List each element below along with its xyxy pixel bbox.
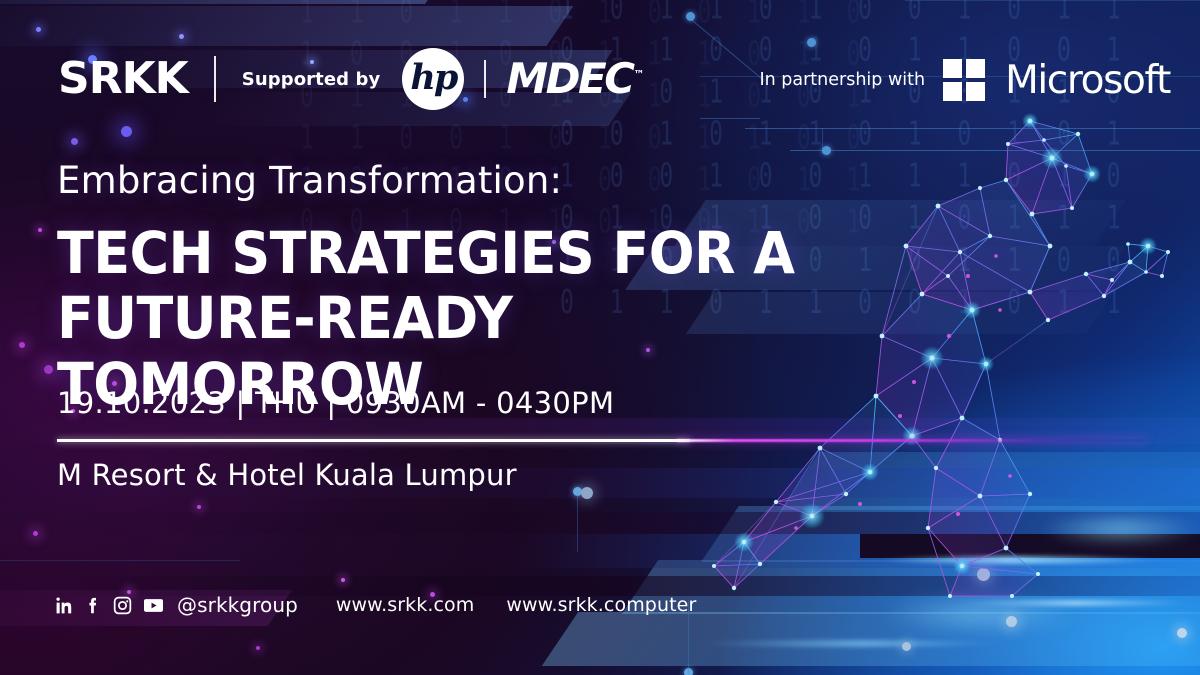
website-url-primary[interactable]: www.srkk.com (336, 594, 474, 616)
microsoft-square-br (966, 82, 985, 101)
microsoft-logo-icon (943, 59, 985, 101)
youtube-icon[interactable] (143, 596, 164, 615)
footer-bar: @srkkgroup www.srkk.com www.srkk.compute… (55, 592, 696, 618)
microsoft-square-bl (943, 82, 962, 101)
mdec-logo: MDEC™ (506, 58, 644, 100)
divider-magenta-glow (677, 439, 1147, 442)
instagram-icon[interactable] (113, 596, 132, 615)
logo-bar: SRKK Supported by hp MDEC™ (58, 46, 645, 112)
microsoft-wordmark: Microsoft (1005, 61, 1170, 100)
headline-block: Embracing Transformation: TECH STRATEGIE… (57, 160, 957, 417)
headline-eyebrow: Embracing Transformation: (57, 160, 957, 203)
linkedin-icon[interactable] (55, 596, 74, 615)
partnership-label: In partnership with (759, 70, 925, 90)
srkk-logo: SRKK (58, 57, 188, 101)
social-icon-group (55, 596, 164, 615)
logo-divider-2 (484, 60, 486, 98)
microsoft-square-tr (966, 59, 985, 78)
divider (57, 438, 1147, 444)
headline-line-1: TECH STRATEGIES FOR A (57, 221, 894, 287)
divider-white-segment (57, 439, 690, 442)
event-venue: M Resort & Hotel Kuala Lumpur (57, 458, 517, 492)
event-date-time: 19.10.2023 | THU | 0930AM - 0430PM (57, 386, 614, 420)
hp-logo-text: hp (410, 60, 456, 95)
logo-divider-1 (214, 56, 216, 102)
mdec-logo-text: MDEC (506, 54, 632, 103)
partnership-block: In partnership with Microsoft (759, 56, 1170, 104)
trademark-symbol: ™ (634, 68, 645, 81)
event-banner: 1 0 1 1 0 1 0 0 1 0 1 1 0 1 1 0 0 1 0 1 … (0, 0, 1200, 675)
hp-logo: hp (402, 48, 464, 110)
supported-by-label: Supported by (242, 69, 381, 90)
banner-content: SRKK Supported by hp MDEC™ In partnershi… (0, 0, 1200, 675)
microsoft-square-tl (943, 59, 962, 78)
social-handle: @srkkgroup (177, 593, 298, 617)
facebook-icon[interactable] (85, 596, 102, 615)
website-url-secondary[interactable]: www.srkk.computer (506, 594, 696, 616)
